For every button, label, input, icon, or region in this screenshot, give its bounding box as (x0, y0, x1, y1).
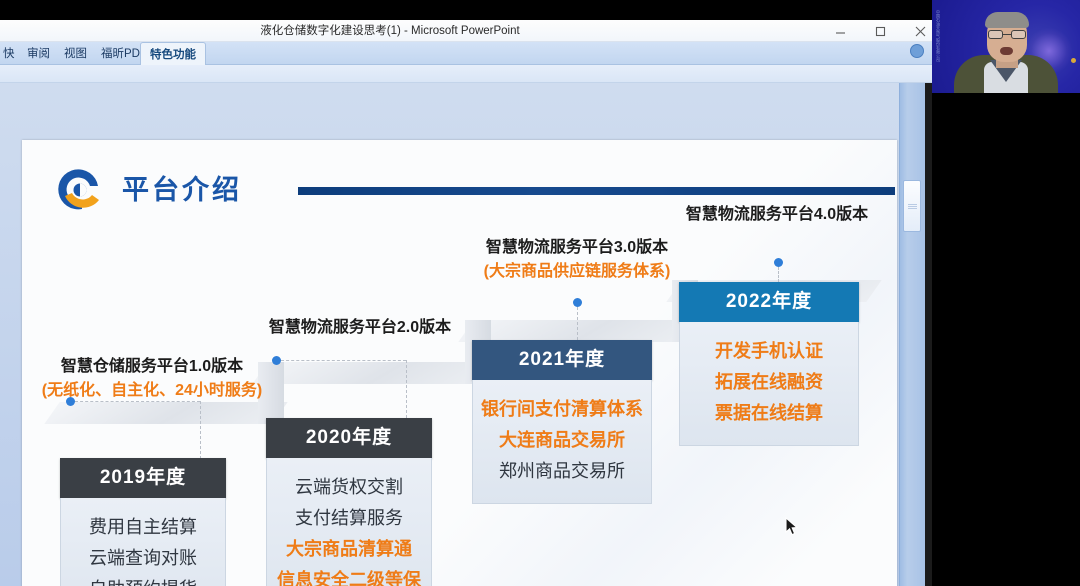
card-2022[interactable]: 2022年度 开发手机认证 拓展在线融资 票据在线结算 (679, 282, 859, 446)
leader-line-2019-h (75, 401, 200, 402)
leader-line-2022-v (778, 267, 779, 282)
vertical-scrollbar[interactable] (899, 83, 925, 586)
leader-line-2020-h (281, 360, 406, 361)
timeline-dot-2022 (774, 258, 783, 267)
card-2019-item-2: 自助预约提货 (61, 574, 225, 586)
close-button[interactable] (900, 20, 932, 42)
card-2022-body: 开发手机认证 拓展在线融资 票据在线结算 (679, 322, 859, 446)
background-dot (1071, 58, 1076, 63)
card-2019-header: 2019年度 (60, 458, 226, 498)
card-2021-header: 2021年度 (472, 340, 652, 380)
ribbon-tab-review[interactable]: 审阅 (18, 42, 59, 65)
card-2021[interactable]: 2021年度 银行间支付清算体系 大连商品交易所 郑州商品交易所 (472, 340, 652, 504)
card-2019-item-1: 云端查询对账 (61, 543, 225, 574)
card-2020-header: 2020年度 (266, 418, 432, 458)
card-2019-body: 费用自主结算 云端查询对账 自助预约提货 (60, 498, 226, 586)
maximize-restore-button[interactable] (860, 20, 900, 42)
caption-2021: 智慧物流服务平台3.0版本 (大宗商品供应链服务体系) (442, 233, 712, 281)
ribbon-tab-view[interactable]: 视图 (55, 42, 96, 65)
leader-line-2019-v (200, 401, 201, 459)
card-2021-item-2: 郑州商品交易所 (473, 456, 651, 487)
card-2019-item-0: 费用自主结算 (61, 512, 225, 543)
step-shape-2 (252, 362, 495, 384)
presenter-video-frame: 中国石油天然气股份有限公司 (932, 0, 1080, 93)
card-2020-item-2: 大宗商品清算通 (267, 534, 431, 565)
step-shape-1 (44, 402, 287, 424)
card-2019[interactable]: 2019年度 费用自主结算 云端查询对账 自助预约提货 (60, 458, 226, 586)
presenter-mouth (1000, 47, 1013, 55)
timeline-dot-2019 (66, 397, 75, 406)
ribbon-tab-strip: 快 审阅 视图 福昕PDF 特色功能 (0, 42, 932, 65)
step-shape-3 (458, 320, 701, 342)
caption-2021-line1: 智慧物流服务平台3.0版本 (442, 233, 712, 257)
presenter-hair (985, 12, 1029, 28)
window-right-edge (925, 83, 932, 586)
timeline-dot-2021 (573, 298, 582, 307)
ribbon-tab-special-features[interactable]: 特色功能 (140, 42, 206, 65)
card-2021-item-0: 银行间支付清算体系 (473, 394, 651, 425)
caption-2022-line1: 智慧物流服务平台4.0版本 (652, 200, 897, 224)
powerpoint-window: 液化仓储数字化建设思考(1) - Microsoft PowerPoint 快 … (0, 20, 932, 586)
ribbon-body (0, 65, 932, 83)
caption-2020: 智慧物流服务平台2.0版本 (235, 313, 485, 337)
card-2020-item-0: 云端货权交割 (267, 472, 431, 503)
glasses-icon (988, 30, 1026, 39)
video-watermark: 中国石油天然气股份有限公司 (935, 10, 941, 80)
caption-2019-line2: (无纸化、自主化、24小时服务) (27, 376, 277, 400)
card-2022-item-0: 开发手机认证 (680, 336, 858, 367)
page-title: 平台介绍 (122, 168, 242, 207)
leader-line-2020-v (406, 360, 407, 418)
card-2021-body: 银行间支付清算体系 大连商品交易所 郑州商品交易所 (472, 380, 652, 504)
title-underline-bar (298, 187, 895, 195)
card-2020-body: 云端货权交割 支付结算服务 大宗商品清算通 信息安全二级等保 (266, 458, 432, 586)
caption-2021-line2: (大宗商品供应链服务体系) (442, 257, 712, 281)
slide-canvas: 平台介绍 智慧仓储服务平台1.0版本 (无纸化、自主化、24小时服务) 2019… (22, 140, 897, 586)
screen-capture: 液化仓储数字化建设思考(1) - Microsoft PowerPoint 快 … (0, 0, 1080, 586)
window-title: 液化仓储数字化建设思考(1) - Microsoft PowerPoint (0, 20, 900, 42)
card-2022-item-2: 票据在线结算 (680, 398, 858, 429)
card-2021-item-1: 大连商品交易所 (473, 425, 651, 456)
timeline-dot-2020 (272, 356, 281, 365)
presenter-video-panel[interactable]: 中国石油天然气股份有限公司 (932, 0, 1080, 586)
scrollbar-thumb[interactable] (903, 180, 921, 232)
card-2020[interactable]: 2020年度 云端货权交割 支付结算服务 大宗商品清算通 信息安全二级等保 (266, 418, 432, 586)
help-icon[interactable] (910, 44, 924, 58)
mouse-cursor (785, 517, 799, 537)
card-2022-item-1: 拓展在线融资 (680, 367, 858, 398)
card-2020-item-3: 信息安全二级等保 (267, 565, 431, 586)
leader-line-2021-v (577, 307, 578, 340)
card-2022-header: 2022年度 (679, 282, 859, 322)
caption-2019: 智慧仓储服务平台1.0版本 (无纸化、自主化、24小时服务) (27, 352, 277, 400)
caption-2020-line1: 智慧物流服务平台2.0版本 (235, 313, 485, 337)
window-title-bar: 液化仓储数字化建设思考(1) - Microsoft PowerPoint (0, 20, 932, 42)
minimize-button[interactable] (820, 20, 860, 42)
platform-logo-icon (52, 162, 108, 218)
card-2020-item-1: 支付结算服务 (267, 503, 431, 534)
caption-2019-line1: 智慧仓储服务平台1.0版本 (27, 352, 277, 376)
caption-2022: 智慧物流服务平台4.0版本 (652, 200, 897, 224)
